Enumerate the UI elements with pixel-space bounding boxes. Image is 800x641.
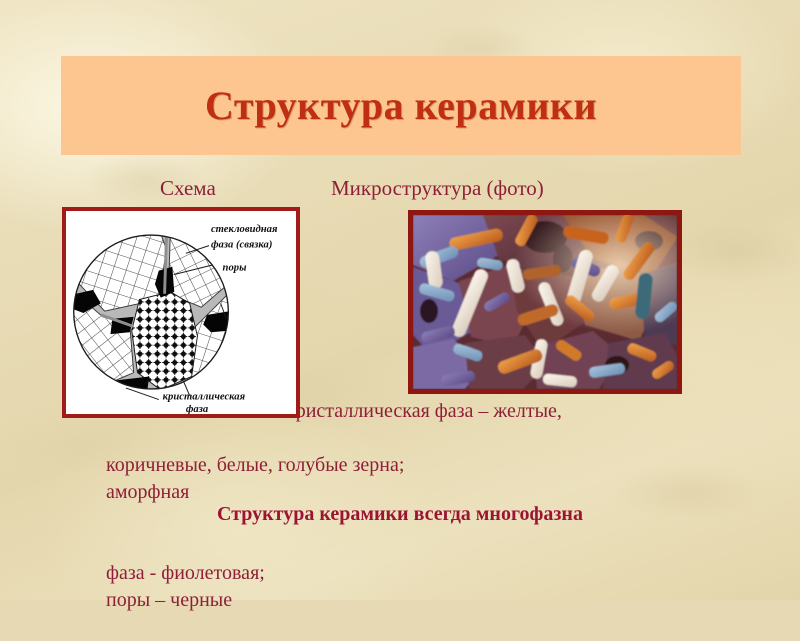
caption-scheme: Схема xyxy=(160,176,216,201)
body-line-3: фаза - фиолетовая; поры – черные xyxy=(86,533,726,641)
scheme-label-glassy-line1: стекловидная xyxy=(211,224,278,235)
scheme-label-crystalline-line2: фаза xyxy=(186,404,209,414)
scheme-diagram-frame: стекловидная фаза (связка) поры кристалл… xyxy=(62,207,300,418)
body-line-2-left: коричневые, белые, голубые зерна; xyxy=(106,454,404,476)
scheme-label-crystalline-line1: кристаллическая xyxy=(163,392,246,403)
conclusion-text: Структура керамики всегда многофазна xyxy=(0,503,800,526)
micrograph-photo-frame xyxy=(408,210,682,394)
scheme-diagram-image: стекловидная фаза (связка) поры кристалл… xyxy=(66,211,296,414)
scheme-label-glassy-line2: фаза (связка) xyxy=(211,240,272,251)
body-line-2-right: аморфная xyxy=(106,481,189,503)
micrograph-photo-image xyxy=(413,215,677,389)
page-title: Структура керамики xyxy=(61,56,741,155)
body-line-3-left: фаза - фиолетовая; xyxy=(106,562,265,584)
caption-photo: Микроструктура (фото) xyxy=(331,176,544,201)
body-line-3-right: поры – черные xyxy=(106,589,238,611)
scheme-label-pores: поры xyxy=(223,263,248,274)
